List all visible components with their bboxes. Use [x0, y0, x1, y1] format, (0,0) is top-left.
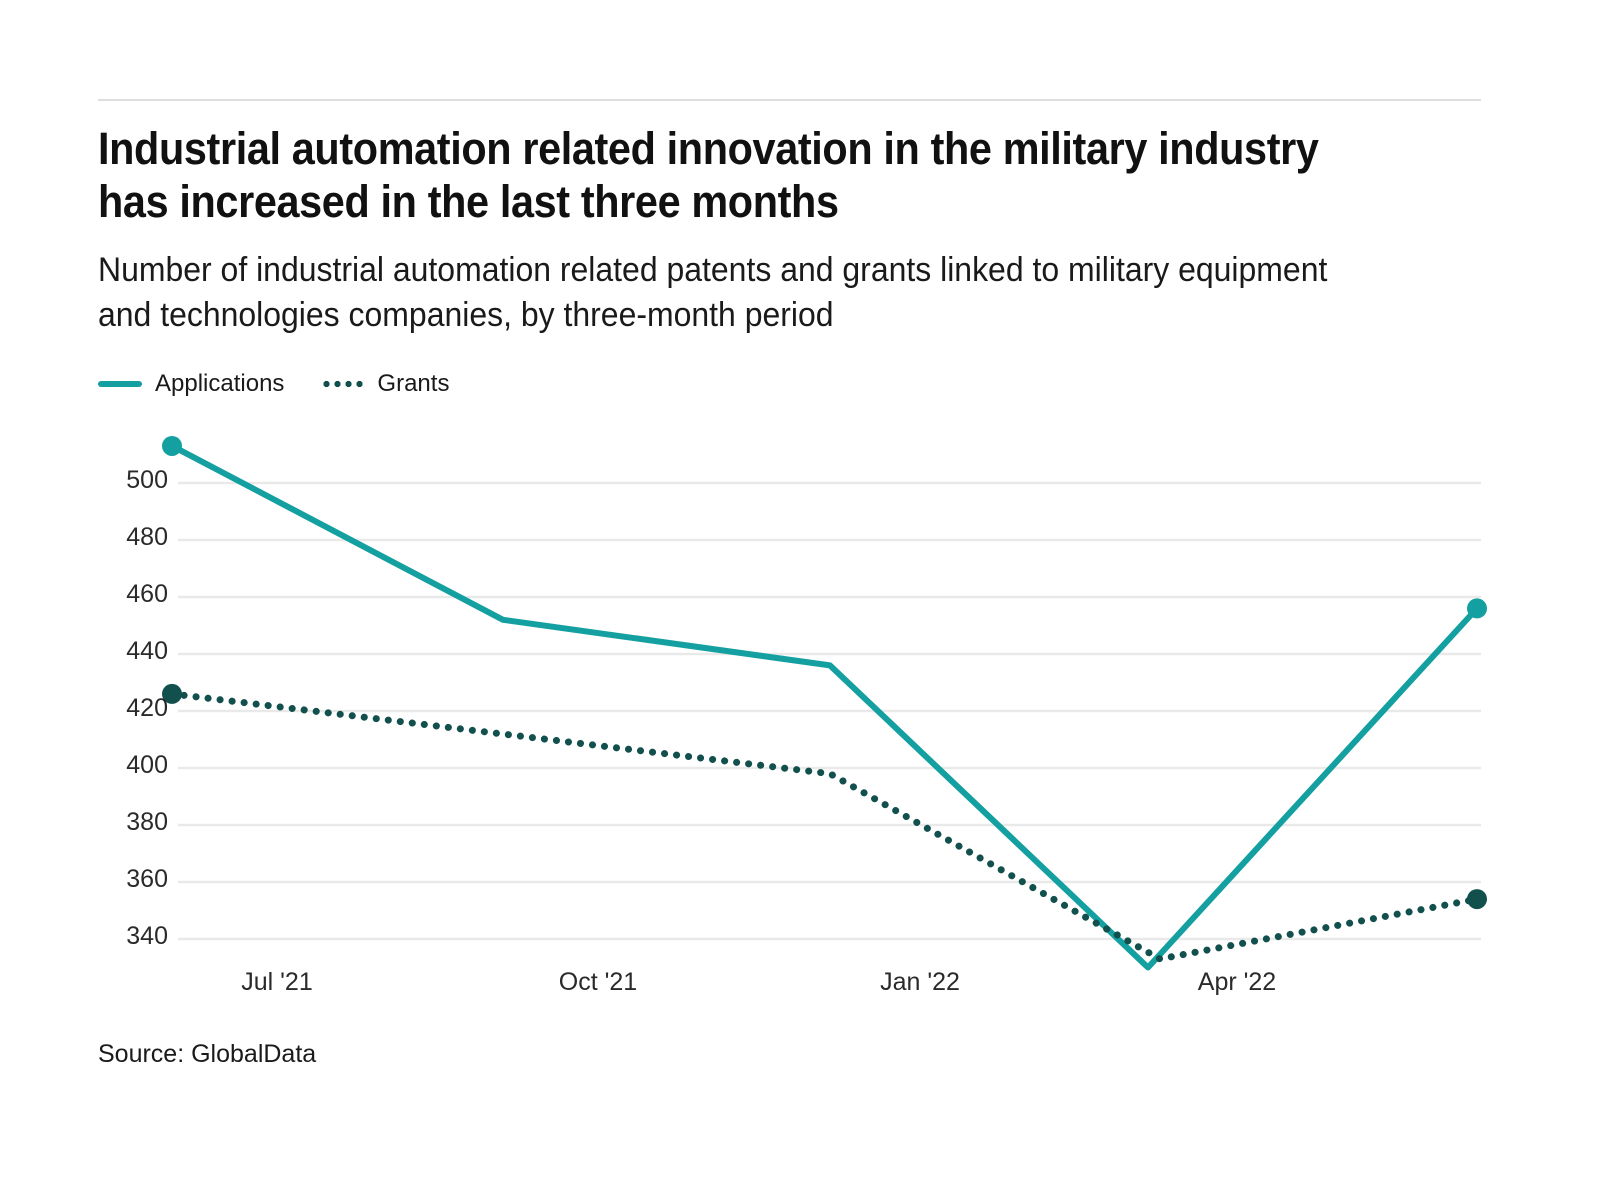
line-chart-canvas	[0, 0, 1600, 1200]
y-axis-tick-label: 440	[98, 637, 168, 666]
y-axis-tick-label: 480	[98, 523, 168, 552]
source-note: Source: GlobalData	[98, 1040, 316, 1069]
x-axis-tick-label: Jan '22	[820, 968, 1020, 997]
y-axis-tick-label: 380	[98, 808, 168, 837]
y-axis-tick-label: 460	[98, 580, 168, 609]
data-point-marker	[162, 436, 182, 456]
chart-series	[162, 436, 1487, 968]
data-point-marker	[1467, 889, 1487, 909]
y-axis-tick-label: 340	[98, 922, 168, 951]
y-axis-tick-label: 420	[98, 694, 168, 723]
data-point-marker	[1467, 598, 1487, 618]
y-axis-tick-label: 500	[98, 466, 168, 495]
x-axis-tick-label: Apr '22	[1137, 968, 1337, 997]
x-axis-tick-label: Jul '21	[177, 968, 377, 997]
y-axis-tick-label: 360	[98, 865, 168, 894]
series-line-applications	[172, 446, 1477, 968]
chart-page: Industrial automation related innovation…	[0, 0, 1600, 1200]
x-axis-tick-label: Oct '21	[498, 968, 698, 997]
y-axis-tick-label: 400	[98, 751, 168, 780]
